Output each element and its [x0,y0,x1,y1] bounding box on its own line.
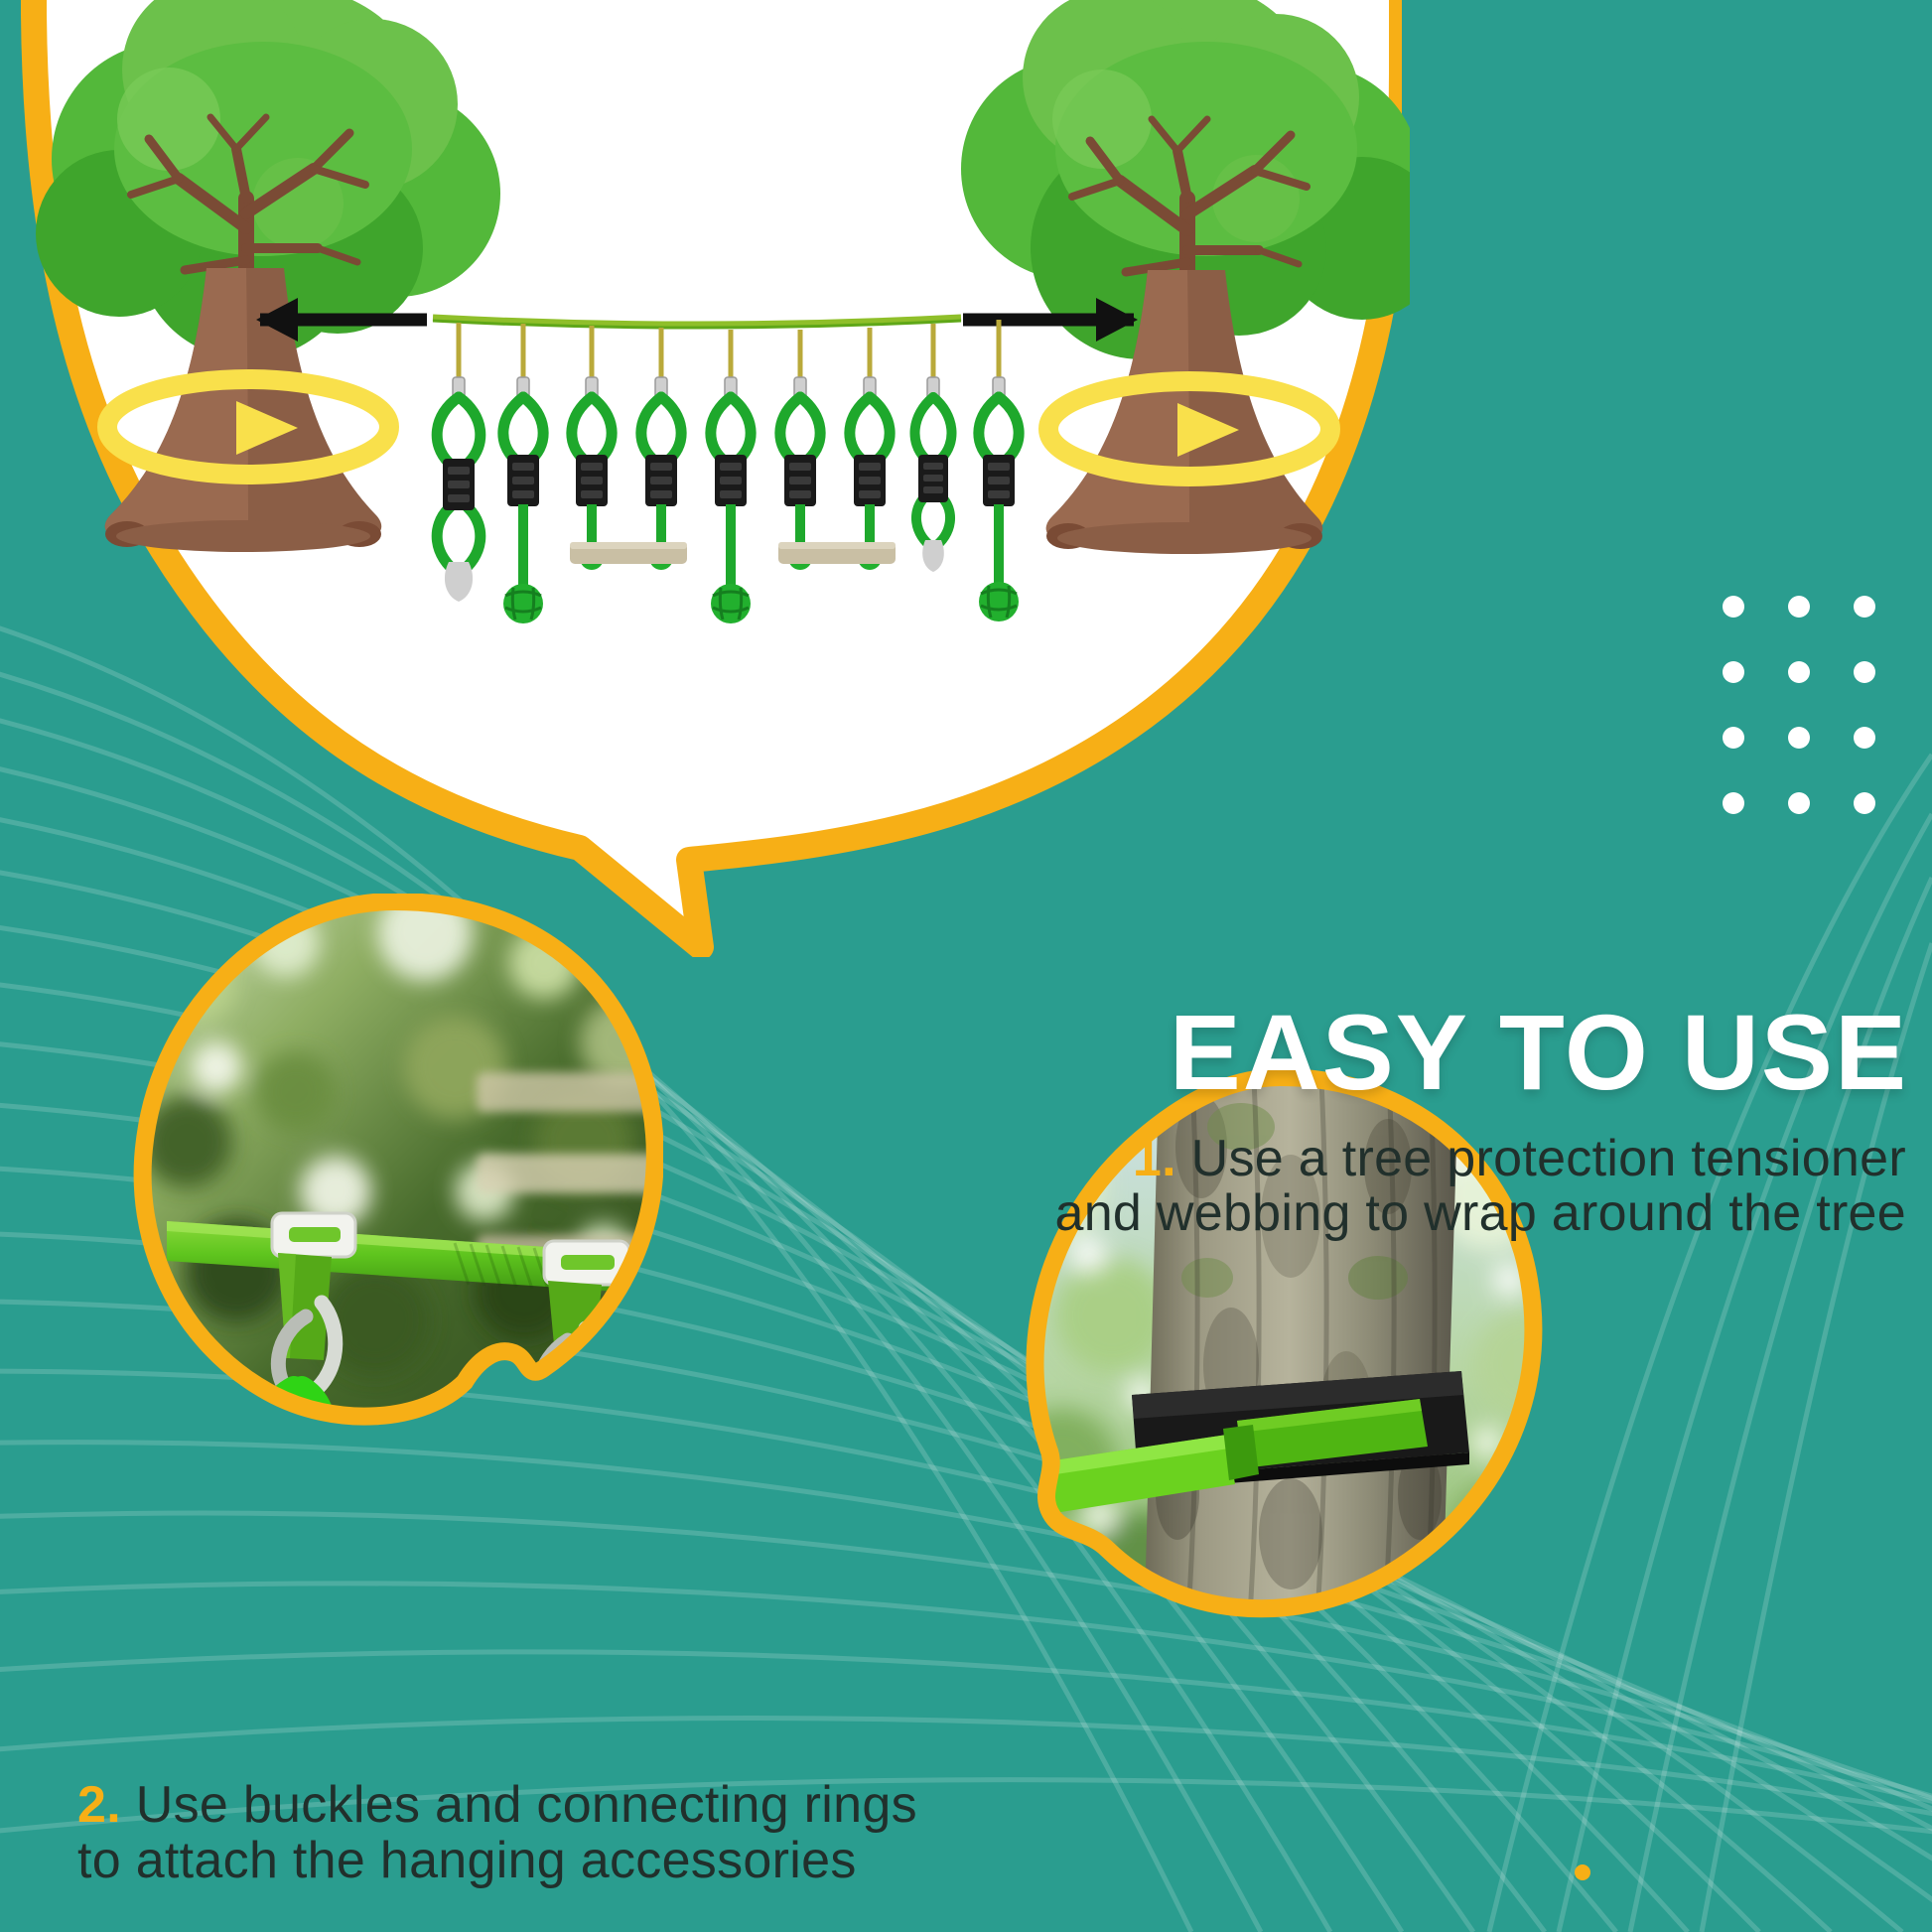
photo-buckles-and-rings [127,894,663,1430]
accessory-2-hanging-ball [503,324,543,623]
accessory-4-swing-plank-right [641,328,681,570]
step-1-number: 1. [1133,1130,1176,1187]
swing-plank-board-1 [570,542,687,564]
step-2-caption: 2. Use buckles and connecting rings to a… [77,1777,1130,1888]
dot [1788,792,1810,814]
metal-buckle-left [272,1213,355,1257]
dot [1723,596,1744,618]
accessory-1-monkey-bar-loop [437,323,481,602]
hanging-accessories [437,320,1019,623]
step-1-line-2: and webbing to wrap around the tree [1054,1184,1906,1242]
dot [1854,727,1875,749]
page-title: EASY TO USE [1170,999,1908,1106]
dot [1788,727,1810,749]
tree-right [961,0,1410,554]
orange-dot-decoration [1575,1864,1590,1880]
accessory-8-monkey-bar-loop [915,324,952,572]
accessory-7-swing-plank-right [850,328,890,570]
dot [1854,596,1875,618]
swing-plank-board-2 [778,542,896,564]
dot [1723,727,1744,749]
dot [1723,661,1744,683]
dot [1788,661,1810,683]
step-2-line-1: Use buckles and connecting rings [136,1776,917,1834]
tree-left [36,0,500,552]
dot [1788,596,1810,618]
slackline-obstacle-course-diagram [0,0,1410,635]
step-1-line-1: Use a tree protection tensioner [1191,1130,1906,1187]
step-2-line-2: to attach the hanging accessories [77,1832,857,1889]
slackline-webbing [433,318,961,328]
accessory-3-swing-plank-left [572,326,612,570]
dot [1723,792,1744,814]
step-1-caption: 1. Use a tree protection tensioner and w… [784,1132,1906,1241]
accessory-9-hanging-ball [979,320,1019,621]
dot [1854,661,1875,683]
infographic-canvas: EASY TO USE 1. Use a tree protection ten… [0,0,1932,1932]
green-connecting-ring-right [532,1414,588,1430]
accessory-6-swing-plank-left [780,330,820,570]
step-2-number: 2. [77,1776,121,1834]
accessory-5-hanging-ball [711,330,751,623]
dot-grid-decoration [1723,596,1919,858]
dot [1854,792,1875,814]
